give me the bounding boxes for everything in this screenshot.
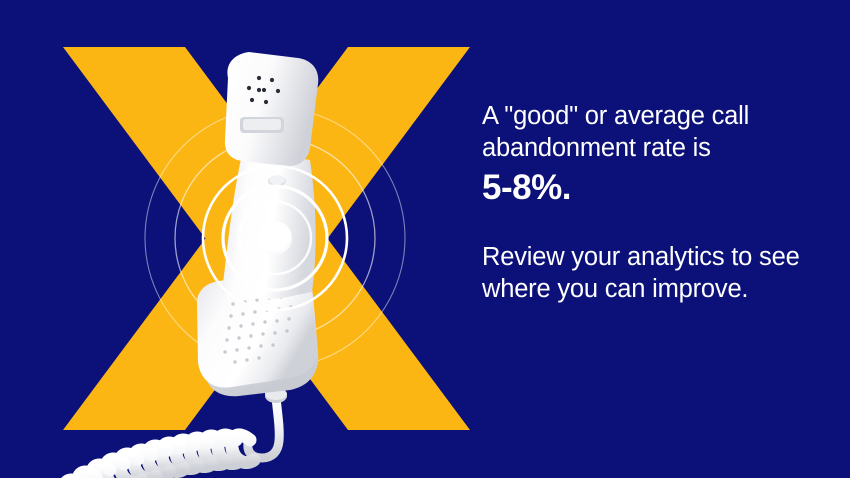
handset-earpiece xyxy=(225,52,318,166)
paragraph-secondary: Review your analytics to see where you c… xyxy=(482,241,832,305)
slide-canvas: A "good" or average call abandonment rat… xyxy=(0,0,850,478)
statistic-value: 5-8%. xyxy=(482,167,832,209)
signal-ring-hub xyxy=(258,221,292,255)
copy-block: A "good" or average call abandonment rat… xyxy=(482,100,832,305)
paragraph-primary: A "good" or average call abandonment rat… xyxy=(482,100,832,164)
hero-graphic xyxy=(0,0,480,478)
